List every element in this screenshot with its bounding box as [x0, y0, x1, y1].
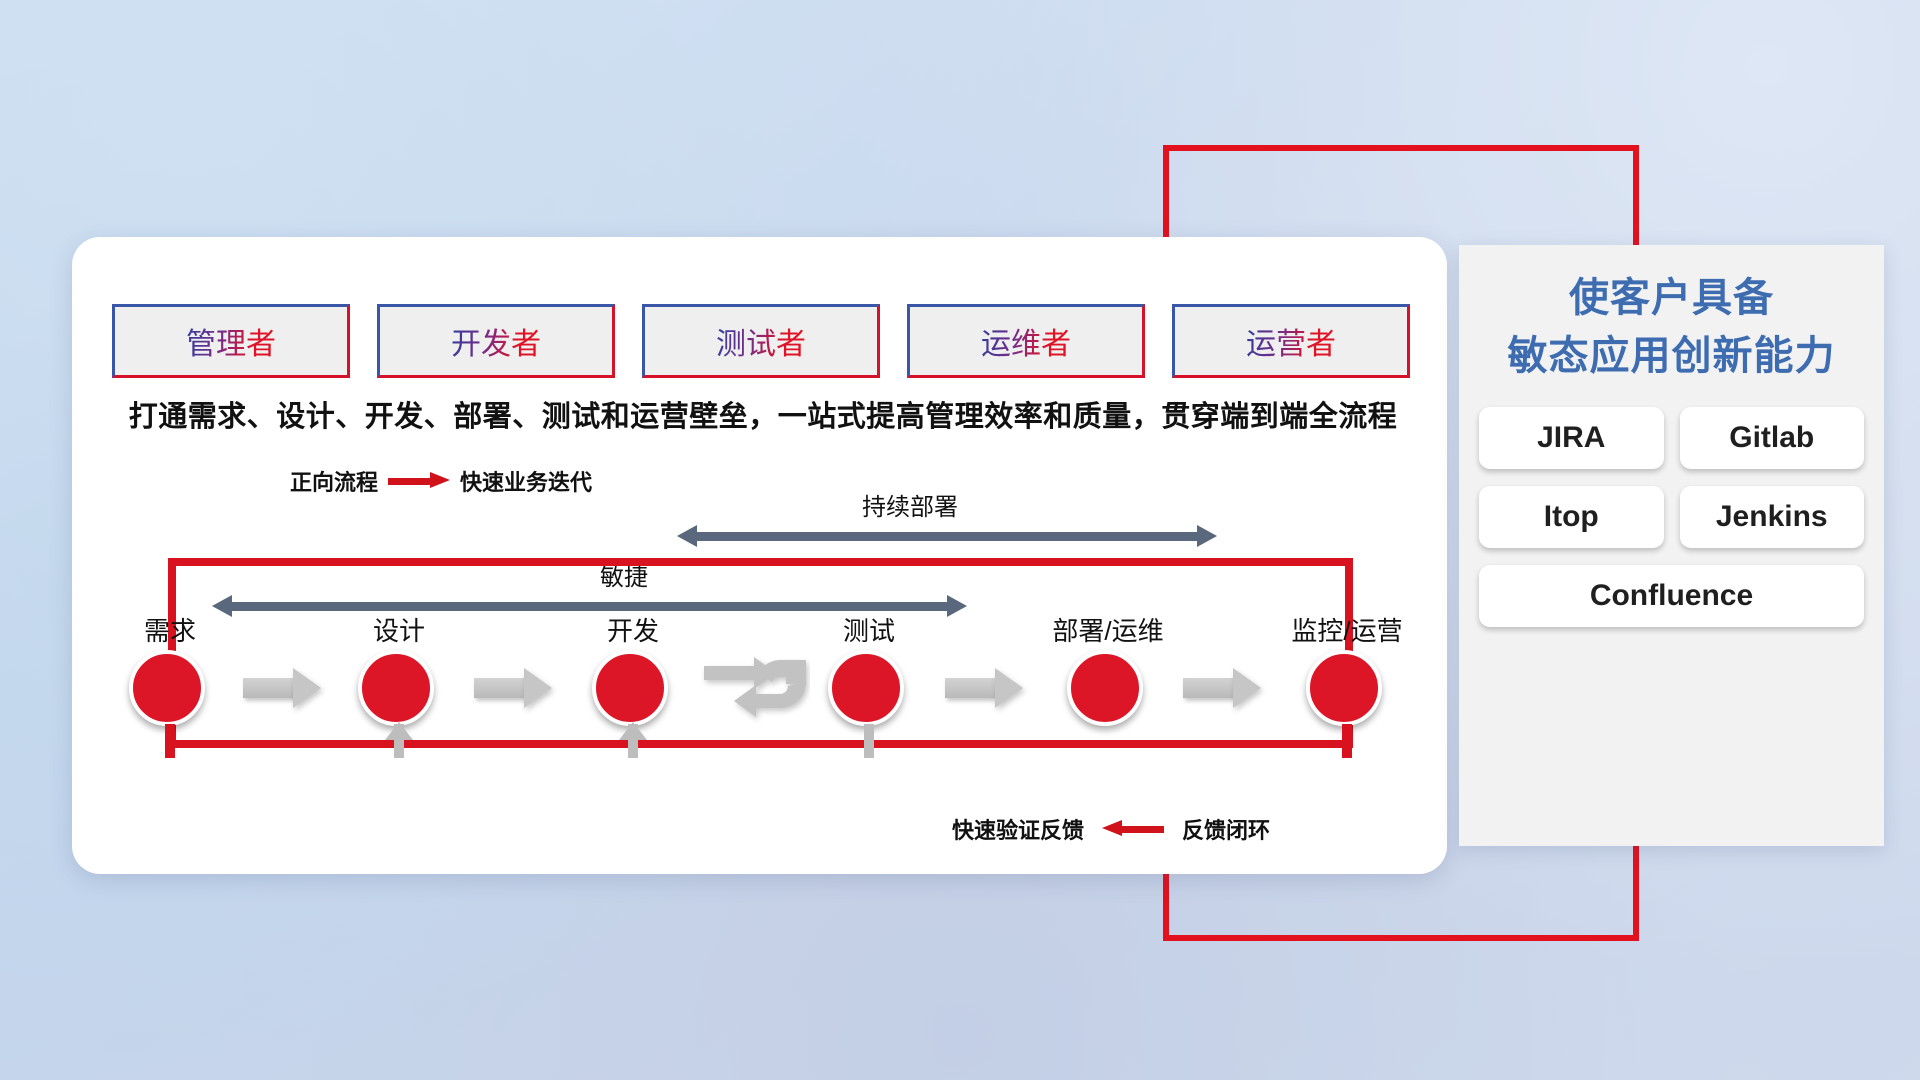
pipeline-node-requirements[interactable]: 需求 — [129, 650, 211, 726]
pipeline-node-label: 开发 — [607, 611, 659, 648]
arrow-head-left-icon — [212, 595, 232, 617]
span-label-continuous-deployment: 持续部署 — [862, 487, 958, 522]
pipeline-node-design[interactable]: 设计 — [358, 650, 440, 726]
legend-feedback-left-label: 快速验证反馈 — [952, 813, 1084, 845]
node-dot — [129, 650, 205, 726]
panel-title: 使客户具备 敏态应用创新能力 — [1459, 245, 1884, 385]
feedback-loop-top-line — [168, 558, 1353, 566]
arrow-shaft — [695, 532, 1199, 541]
node-stem — [394, 724, 404, 758]
node-stem — [165, 724, 175, 758]
node-dot — [592, 650, 668, 726]
arrow-right-icon — [388, 474, 450, 488]
arrow-shaft — [945, 678, 997, 698]
main-card: 管理者 开发者 测试者 运维者 运营者 打通需求、设计、开发、部署、测试和运营壁… — [72, 237, 1447, 874]
node-dot — [358, 650, 434, 726]
arrow-head-icon — [524, 668, 552, 708]
pipeline-node-testing[interactable]: 测试 — [828, 650, 910, 726]
node-dot — [828, 650, 904, 726]
headline-text: 打通需求、设计、开发、部署、测试和运营壁垒，一站式提高管理效率和质量，贯穿端到端… — [118, 393, 1408, 435]
role-box-row: 管理者 开发者 测试者 运维者 运营者 — [112, 304, 1410, 378]
tool-badge-itop[interactable]: Itop — [1479, 486, 1664, 548]
capability-panel: 使客户具备 敏态应用创新能力 JIRA Gitlab Itop Jenkins … — [1459, 245, 1884, 846]
legend-feedback-loop: 快速验证反馈 反馈闭环 — [952, 813, 1270, 845]
tool-label: JIRA — [1537, 421, 1605, 455]
role-label: 管理者 — [186, 319, 276, 363]
flow-arrow-icon — [945, 668, 1023, 708]
iteration-loop-arrow-icon — [700, 652, 810, 724]
node-stem — [628, 724, 638, 758]
arrow-head-icon — [995, 668, 1023, 708]
arrow-shaft — [474, 678, 526, 698]
arrow-head-right-icon — [1197, 525, 1217, 547]
arrow-head-left-icon — [677, 525, 697, 547]
role-box-operations[interactable]: 运营者 — [1172, 304, 1410, 378]
node-dot — [1067, 650, 1143, 726]
node-stem — [864, 724, 874, 758]
pipeline-node-label: 测试 — [843, 611, 895, 648]
role-box-tester[interactable]: 测试者 — [642, 304, 880, 378]
node-stem — [1342, 724, 1352, 758]
tool-label: Gitlab — [1729, 421, 1814, 455]
span-arrow-continuous-deployment — [677, 525, 1217, 547]
arrow-head-icon — [293, 668, 321, 708]
flow-arrow-icon — [243, 668, 321, 708]
tool-badge-confluence[interactable]: Confluence — [1479, 565, 1864, 627]
legend-forward-right-label: 快速业务迭代 — [460, 465, 592, 497]
tool-badge-list: JIRA Gitlab Itop Jenkins Confluence — [1459, 407, 1884, 627]
legend-forward-left-label: 正向流程 — [290, 465, 378, 497]
pipeline-node-label: 监控/运营 — [1291, 611, 1402, 648]
legend-forward-flow: 正向流程 快速业务迭代 — [290, 465, 592, 497]
role-box-developer[interactable]: 开发者 — [377, 304, 615, 378]
feedback-loop-bottom-line — [168, 740, 1353, 748]
pipeline-node-label: 需求 — [144, 611, 196, 648]
legend-feedback-right-label: 反馈闭环 — [1182, 813, 1270, 845]
arrow-shaft — [230, 602, 949, 611]
tool-label: Confluence — [1590, 579, 1753, 613]
flow-arrow-icon — [474, 668, 552, 708]
role-box-manager[interactable]: 管理者 — [112, 304, 350, 378]
panel-title-line1: 使客户具备 — [1459, 269, 1884, 327]
arrow-head-right-icon — [947, 595, 967, 617]
tool-badge-jenkins[interactable]: Jenkins — [1680, 486, 1865, 548]
role-label: 测试者 — [716, 319, 806, 363]
role-label: 运营者 — [1246, 319, 1336, 363]
role-label: 开发者 — [451, 319, 541, 363]
pipeline-node-deploy-ops[interactable]: 部署/运维 — [1067, 650, 1149, 726]
role-label: 运维者 — [981, 319, 1071, 363]
slide-canvas: 管理者 开发者 测试者 运维者 运营者 打通需求、设计、开发、部署、测试和运营壁… — [0, 0, 1920, 1080]
tool-label: Itop — [1544, 500, 1599, 534]
arrow-shaft — [1183, 678, 1235, 698]
stem-arrow-up-icon — [619, 722, 647, 740]
panel-title-line2: 敏态应用创新能力 — [1459, 327, 1884, 385]
flow-arrow-icon — [1183, 668, 1261, 708]
pipeline-node-label: 设计 — [373, 611, 425, 648]
node-dot — [1306, 650, 1382, 726]
stem-arrow-up-icon — [385, 722, 413, 740]
tool-badge-gitlab[interactable]: Gitlab — [1680, 407, 1865, 469]
arrow-left-icon — [1102, 822, 1164, 836]
tool-label: Jenkins — [1716, 500, 1828, 534]
pipeline-node-label: 部署/运维 — [1052, 611, 1163, 648]
arrow-head-icon — [1233, 668, 1261, 708]
tool-badge-jira[interactable]: JIRA — [1479, 407, 1664, 469]
pipeline-node-monitor-operations[interactable]: 监控/运营 — [1306, 650, 1388, 726]
role-box-ops[interactable]: 运维者 — [907, 304, 1145, 378]
arrow-shaft — [243, 678, 295, 698]
pipeline-node-development[interactable]: 开发 — [592, 650, 674, 726]
